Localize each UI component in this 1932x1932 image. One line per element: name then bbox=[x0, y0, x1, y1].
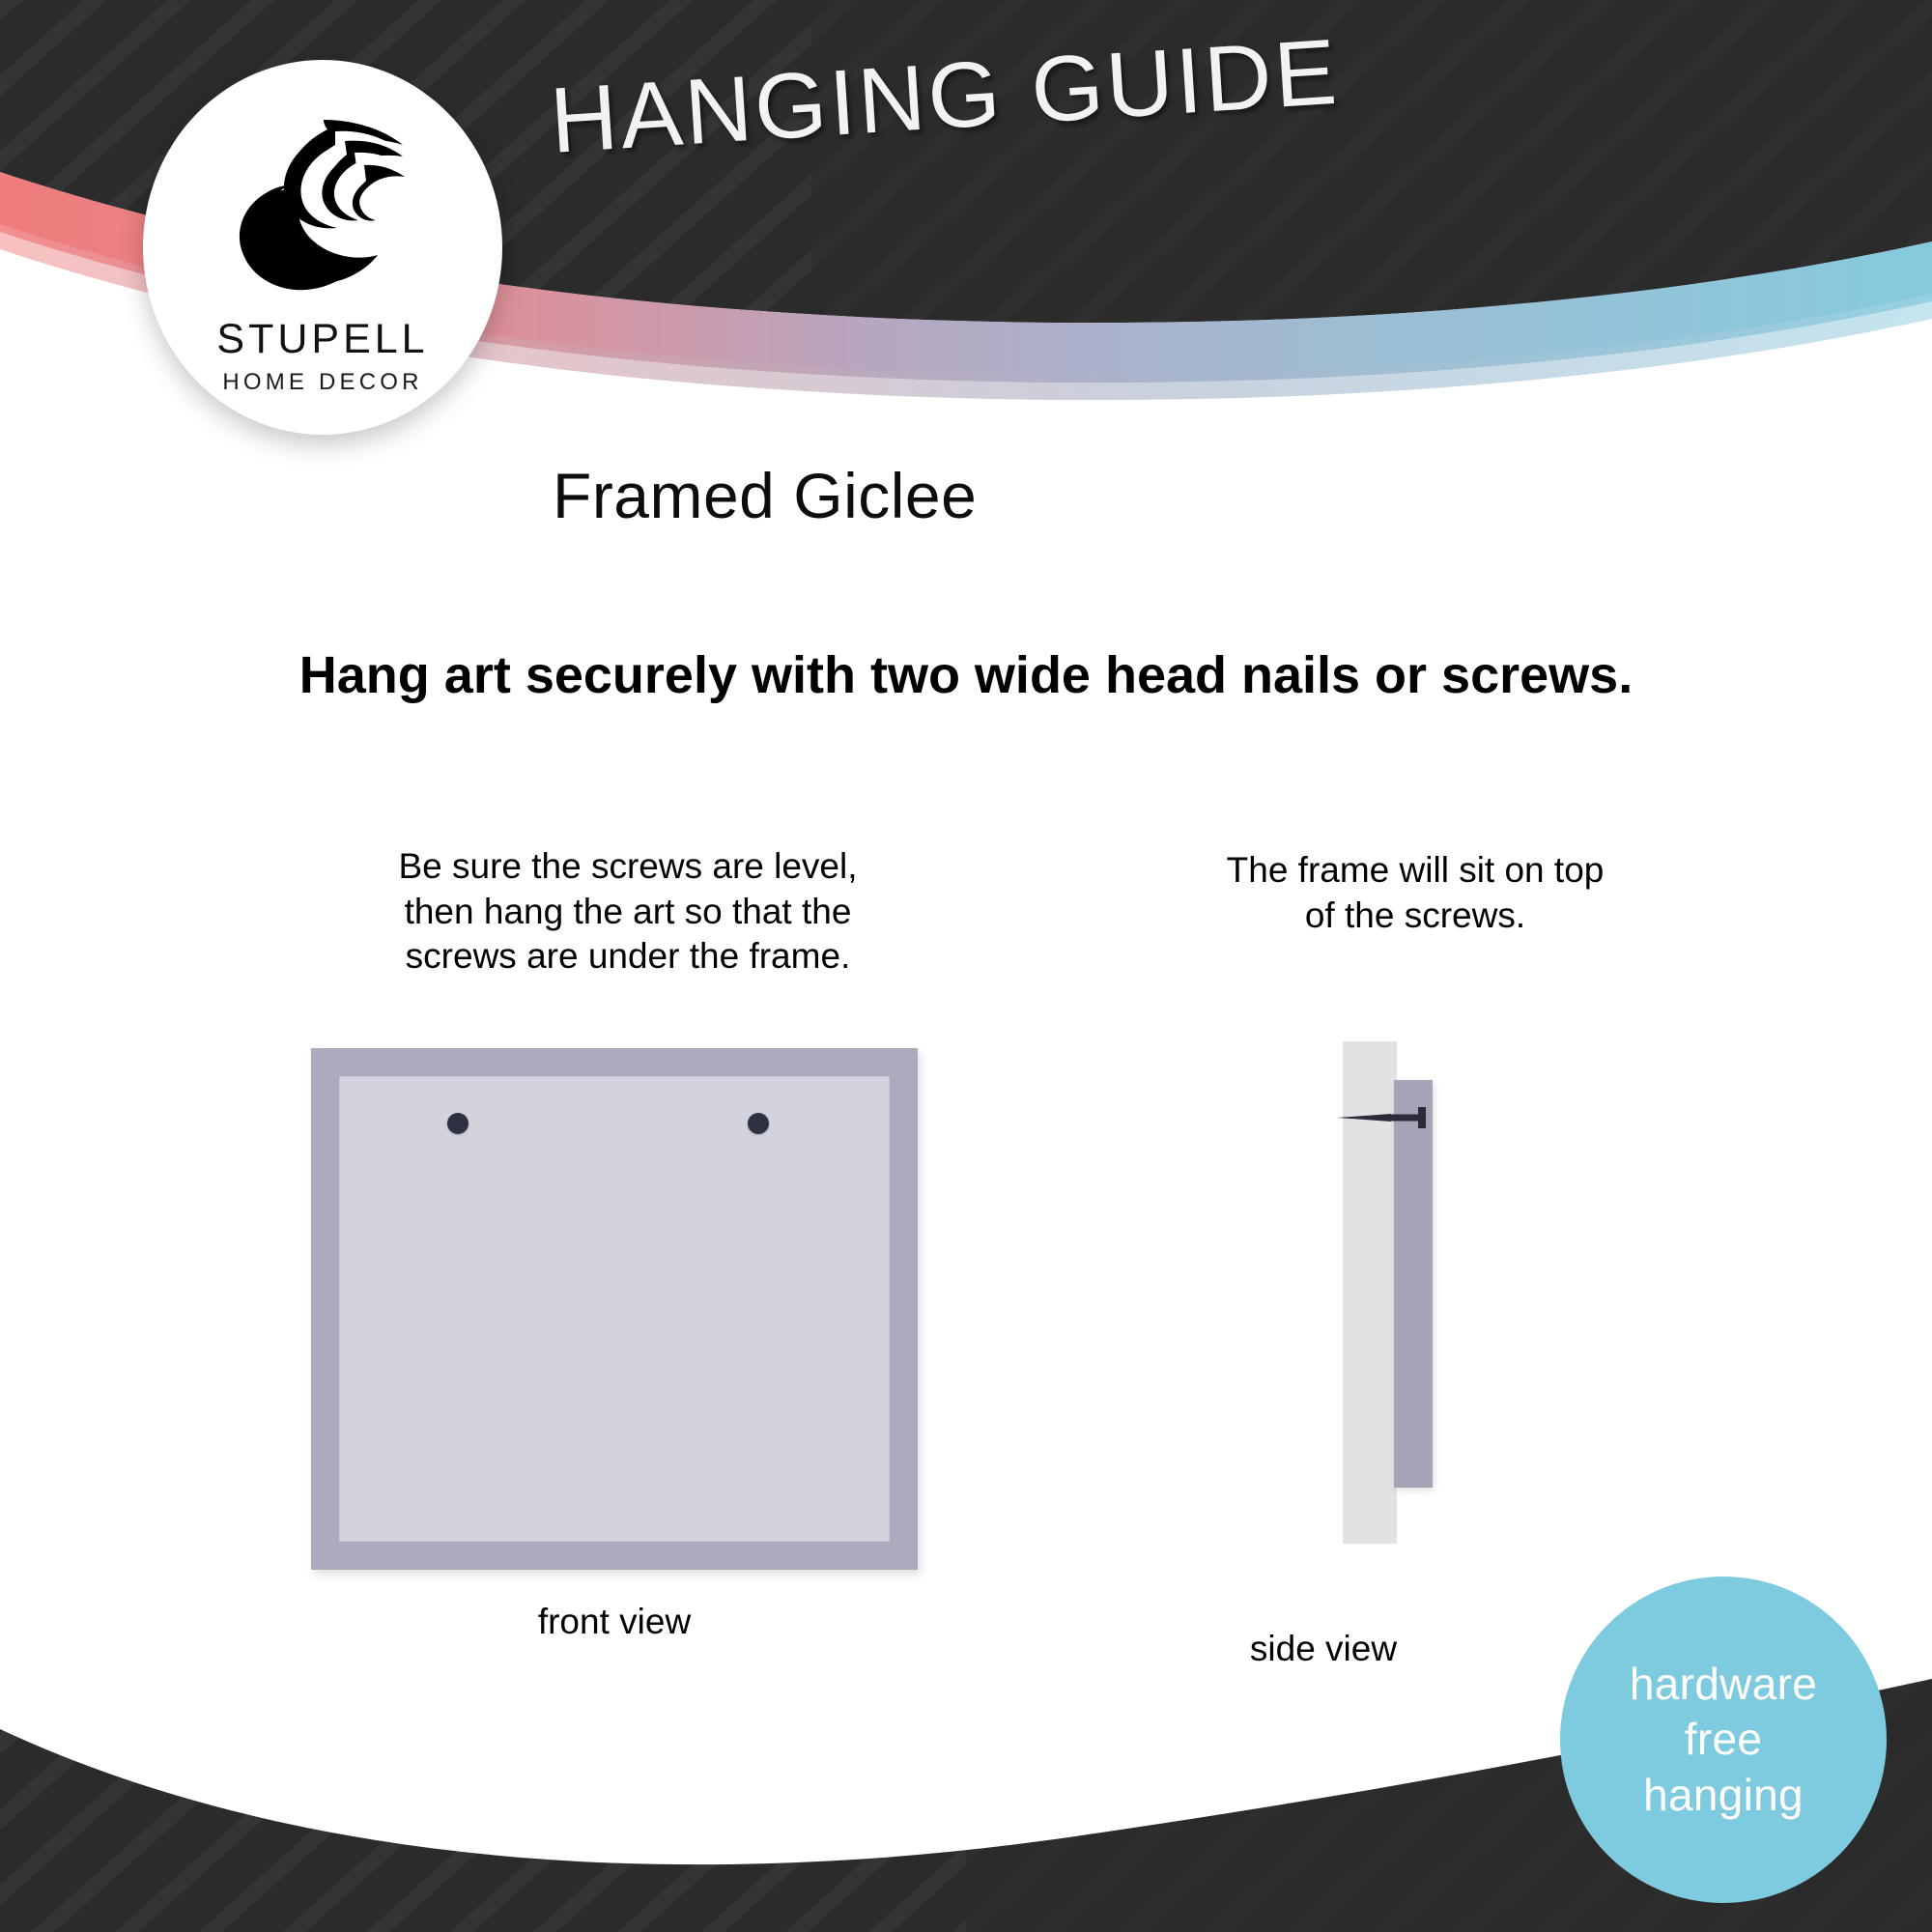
side-view-label: side view bbox=[1140, 1631, 1507, 1666]
front-view-caption-line-3: screws are under the frame. bbox=[290, 934, 966, 980]
product-type-subtitle: Framed Giclee bbox=[553, 464, 977, 527]
logo-wordmark: STUPELL bbox=[143, 319, 502, 360]
frame-art-panel bbox=[339, 1076, 890, 1542]
stupell-swoosh-icon bbox=[231, 104, 414, 303]
badge-line-3: hanging bbox=[1643, 1768, 1804, 1823]
logo-subwordmark: HOME DECOR bbox=[143, 371, 502, 394]
screw-dot-left-icon bbox=[447, 1113, 469, 1134]
badge-line-1: hardware bbox=[1630, 1657, 1817, 1712]
side-view-caption: The frame will sit on top of the screws. bbox=[1145, 848, 1686, 938]
side-view-illustration bbox=[1343, 1041, 1517, 1568]
hardware-free-hanging-badge[interactable]: hardware free hanging bbox=[1560, 1577, 1887, 1903]
hanging-guide-page: HANGING GUIDE STUPELL HOME DECOR Framed … bbox=[0, 0, 1932, 1932]
front-view-caption-line-2: then hang the art so that the bbox=[290, 890, 966, 935]
badge-line-2: free bbox=[1685, 1712, 1762, 1767]
side-view-caption-line-1: The frame will sit on top bbox=[1145, 848, 1686, 894]
screw-dot-right-icon bbox=[748, 1113, 769, 1134]
front-view-illustration bbox=[311, 1048, 918, 1570]
nail-icon bbox=[1335, 1103, 1437, 1132]
side-view-caption-line-2: of the screws. bbox=[1145, 894, 1686, 939]
front-view-caption: Be sure the screws are level, then hang … bbox=[290, 844, 966, 980]
front-view-label: front view bbox=[325, 1604, 904, 1639]
brand-logo-badge[interactable]: STUPELL HOME DECOR bbox=[143, 60, 502, 435]
front-view-caption-line-1: Be sure the screws are level, bbox=[290, 844, 966, 890]
main-instruction-text: Hang art securely with two wide head nai… bbox=[0, 649, 1932, 701]
page-title: HANGING GUIDE bbox=[548, 26, 1342, 168]
diagram-section: Be sure the screws are level, then hang … bbox=[0, 831, 1932, 1700]
frame-edge-icon bbox=[1394, 1080, 1433, 1488]
